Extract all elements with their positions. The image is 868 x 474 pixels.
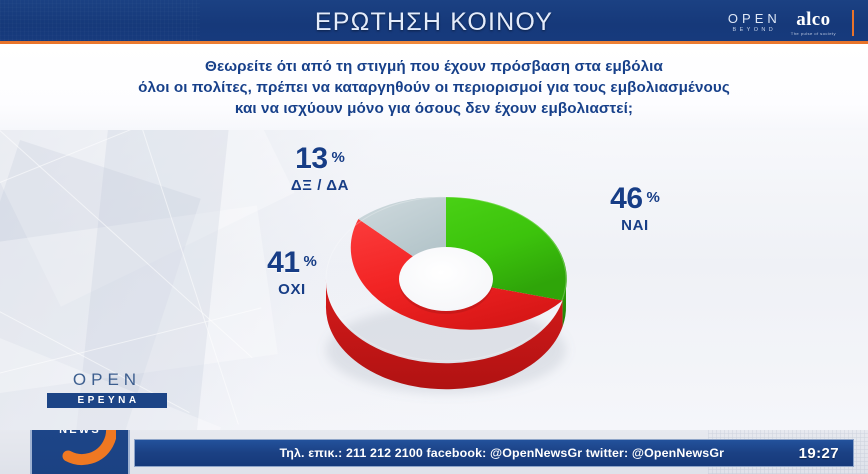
label-no-value-row: 41% <box>228 248 356 278</box>
label-dontknow-percent-sign: % <box>332 149 345 166</box>
open-beyond-logo-sub: BEYOND <box>733 28 777 34</box>
open-beyond-logo: OPEN BEYOND <box>728 12 781 34</box>
label-yes-percent-sign: % <box>647 189 660 206</box>
logo-divider <box>852 10 854 36</box>
donut-hole <box>399 247 493 311</box>
label-yes-value: 46 <box>610 182 642 215</box>
open-beyond-logo-main: OPEN <box>728 12 781 25</box>
open-news-logo-news: NEWS <box>32 430 128 436</box>
label-dontknow-name: ΔΞ / ΔΑ <box>258 177 382 194</box>
label-no-name: ΟΧΙ <box>228 281 356 298</box>
open-news-logo: OPEN NEWS <box>30 430 130 474</box>
clock-time: 19:27 <box>799 445 853 462</box>
label-no: 41% ΟΧΙ <box>228 248 356 298</box>
chart-stage: OPEN ΕΡΕΥΝΑ <box>0 130 868 430</box>
label-dontknow-value: 13 <box>295 142 327 175</box>
alco-logo: alco The pulse of society <box>791 10 836 36</box>
alco-logo-main: alco <box>796 10 830 29</box>
label-no-value: 41 <box>267 246 299 279</box>
header-logos: OPEN BEYOND alco The pulse of society <box>728 7 854 39</box>
label-dontknow: 13% ΔΞ / ΔΑ <box>258 144 382 194</box>
question-band: Θεωρείτε ότι από τη στιγμή που έχουν πρό… <box>0 44 868 130</box>
question-line-3: και να ισχύουν μόνο για όσους δεν έχουν … <box>235 98 633 119</box>
open-erevna-watermark: OPEN ΕΡΕΥΝΑ <box>47 370 167 408</box>
ticker-contact-text: Τηλ. επικ.: 211 212 2100 facebook: @Open… <box>135 446 799 460</box>
broadcast-graphic: ΕΡΩΤΗΣΗ ΚΟΙΝΟΥ OPEN BEYOND alco The puls… <box>0 0 868 474</box>
label-yes-value-row: 46% <box>570 184 700 214</box>
label-dontknow-value-row: 13% <box>258 144 382 174</box>
header-bar: ΕΡΩΤΗΣΗ ΚΟΙΝΟΥ OPEN BEYOND alco The puls… <box>0 0 868 44</box>
footer-bar: OPEN NEWS Τηλ. επικ.: 211 212 2100 faceb… <box>0 430 868 474</box>
alco-logo-sub: The pulse of society <box>791 32 836 36</box>
question-line-1: Θεωρείτε ότι από τη στιγμή που έχουν πρό… <box>205 56 663 77</box>
open-news-logo-text: OPEN NEWS <box>32 430 128 436</box>
question-line-2: όλοι οι πολίτες, πρέπει να καταργηθούν ο… <box>138 77 730 98</box>
label-no-percent-sign: % <box>304 253 317 270</box>
label-yes-name: ΝΑΙ <box>570 217 700 234</box>
ticker-bar: Τηλ. επικ.: 211 212 2100 facebook: @Open… <box>134 439 854 467</box>
label-yes: 46% ΝΑΙ <box>570 184 700 234</box>
watermark-main: OPEN <box>47 370 167 390</box>
watermark-sub: ΕΡΕΥΝΑ <box>47 393 167 408</box>
